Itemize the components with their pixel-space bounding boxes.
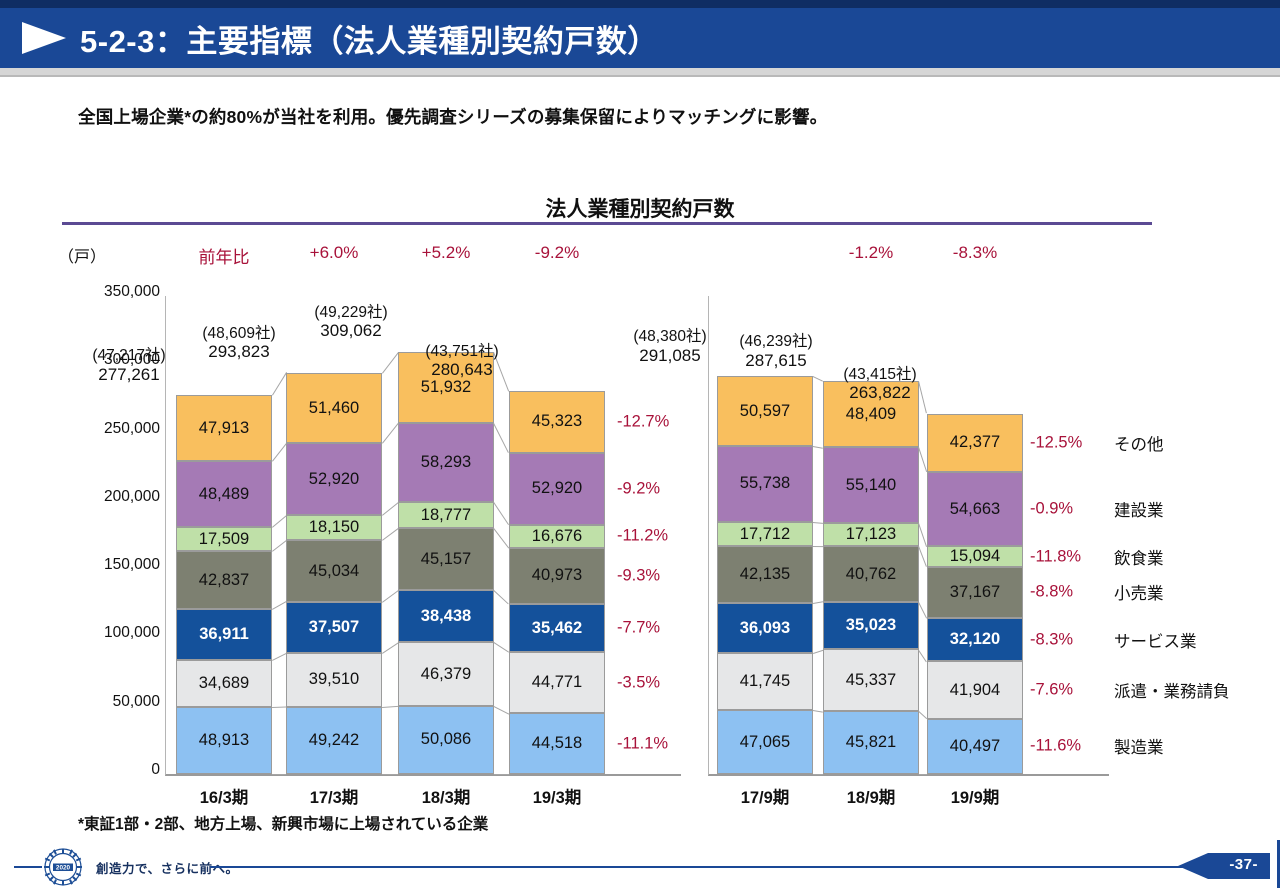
- bar-segment-value: 45,821: [846, 734, 896, 751]
- bar-segment[interactable]: 34,689: [176, 660, 272, 707]
- segment-yoy-delta: -11.6%: [1030, 737, 1081, 756]
- bar-segment-value: 42,837: [199, 572, 249, 589]
- bar-segment-value: 16,676: [532, 528, 582, 545]
- segment-yoy-delta: -12.7%: [617, 412, 669, 431]
- stacked-bar[interactable]: 48,40955,14017,12340,76235,02345,33745,8…: [823, 381, 919, 774]
- bar-segment[interactable]: 35,462: [509, 604, 605, 652]
- bar-segment[interactable]: 15,094: [927, 546, 1023, 567]
- bar-segment[interactable]: 48,489: [176, 461, 272, 527]
- bar-segment-value: 47,065: [740, 734, 790, 751]
- legend-item-5[interactable]: 派遣・業務請負: [1114, 678, 1230, 702]
- company-logo-icon: 2020: [40, 846, 86, 888]
- yoy-value: +6.0%: [274, 243, 394, 263]
- bar-segment[interactable]: 50,086: [398, 706, 494, 774]
- bar-segment[interactable]: 55,140: [823, 447, 919, 522]
- stacked-bar[interactable]: 42,37754,66315,09437,16732,12041,90440,4…: [927, 414, 1023, 774]
- bar-total-value: 309,062: [256, 321, 446, 340]
- bar-segment[interactable]: 37,167: [927, 567, 1023, 618]
- bar-segment[interactable]: 45,157: [398, 528, 494, 590]
- bar-segment[interactable]: 45,337: [823, 649, 919, 711]
- bar-segment[interactable]: 32,120: [927, 618, 1023, 662]
- bar-total-value: 277,261: [34, 365, 224, 384]
- bar-segment-value: 48,489: [199, 486, 249, 503]
- bar-segment-value: 45,337: [846, 672, 896, 689]
- bar-segment[interactable]: 17,712: [717, 522, 813, 546]
- bar-segment[interactable]: 39,510: [286, 653, 382, 707]
- legend-item-0[interactable]: その他: [1114, 431, 1164, 455]
- bar-segment-value: 17,509: [199, 531, 249, 548]
- x-axis-label: 19/9期: [915, 784, 1035, 808]
- bar-segment[interactable]: 58,293: [398, 423, 494, 503]
- footer-rule-left: [14, 866, 42, 868]
- bar-segment[interactable]: 55,738: [717, 446, 813, 522]
- segment-yoy-delta: -8.3%: [1030, 630, 1073, 649]
- bar-segment-value: 38,438: [421, 608, 471, 625]
- bar-segment-value: 18,150: [309, 519, 359, 536]
- page-number: -37-: [1229, 856, 1258, 873]
- y-axis-tick: 100,000: [104, 624, 160, 642]
- bar-segment-value: 45,034: [309, 563, 359, 580]
- bar-segment-value: 58,293: [421, 454, 471, 471]
- segment-connector-line: [382, 774, 398, 775]
- y-axis-tick: 0: [151, 761, 160, 779]
- bar-segment[interactable]: 37,507: [286, 602, 382, 653]
- segment-yoy-delta: -0.9%: [1030, 499, 1073, 518]
- bar-segment-value: 44,771: [532, 674, 582, 691]
- bar-segment-value: 48,409: [846, 406, 896, 423]
- title-divider: [0, 68, 1280, 75]
- x-axis-label: 16/3期: [164, 784, 284, 808]
- bar-segment-value: 17,712: [740, 526, 790, 543]
- bar-segment[interactable]: 40,973: [509, 548, 605, 604]
- bar-segment-value: 42,377: [950, 434, 1000, 451]
- bar-segment[interactable]: 16,676: [509, 525, 605, 548]
- bar-segment-value: 51,932: [421, 379, 471, 396]
- segment-yoy-delta: -9.3%: [617, 566, 660, 585]
- bar-segment[interactable]: 36,093: [717, 603, 813, 652]
- x-axis-label: 19/3期: [497, 784, 617, 808]
- bar-segment-value: 42,135: [740, 566, 790, 583]
- stacked-bar[interactable]: 47,91348,48917,50942,83736,91134,68948,9…: [176, 395, 272, 774]
- bar-segment[interactable]: 52,920: [509, 453, 605, 525]
- x-axis-label: 18/3期: [386, 784, 506, 808]
- segment-yoy-delta: -12.5%: [1030, 433, 1082, 452]
- x-axis-label: 17/3期: [274, 784, 394, 808]
- segment-connector-line: [494, 774, 509, 775]
- bar-segment-value: 49,242: [309, 732, 359, 749]
- bar-segment-value: 55,140: [846, 477, 896, 494]
- footnote: *東証1部・2部、地方上場、新興市場に上場されている企業: [78, 812, 488, 834]
- bar-segment-value: 17,123: [846, 526, 896, 543]
- bar-segment-value: 51,460: [309, 400, 359, 417]
- legend-item-3[interactable]: 小売業: [1114, 580, 1164, 604]
- bar-segment-value: 48,913: [199, 732, 249, 749]
- bar-segment[interactable]: 46,379: [398, 642, 494, 705]
- play-triangle-icon: [22, 22, 66, 54]
- bar-segment[interactable]: 36,911: [176, 609, 272, 659]
- bar-segment[interactable]: 45,821: [823, 711, 919, 774]
- segment-yoy-delta: -11.2%: [617, 527, 668, 546]
- stacked-bar[interactable]: 50,59755,73817,71242,13536,09341,74547,0…: [717, 376, 813, 774]
- bar-total-annotation: (49,229社)309,062: [256, 304, 446, 340]
- segment-connector-line: [919, 774, 927, 775]
- x-axis-label: 17/9期: [705, 784, 825, 808]
- bar-segment-value: 15,094: [950, 548, 1000, 565]
- bar-segment[interactable]: 42,135: [717, 546, 813, 604]
- bar-segment[interactable]: 44,771: [509, 652, 605, 713]
- segment-yoy-delta: -7.7%: [617, 618, 660, 637]
- segment-yoy-delta: -9.2%: [617, 479, 660, 498]
- segment-yoy-delta: -3.5%: [617, 673, 660, 692]
- segment-yoy-delta: -7.6%: [1030, 681, 1073, 700]
- legend-item-6[interactable]: 製造業: [1114, 734, 1164, 758]
- bar-total-annotation: (46,239社)287,615: [681, 333, 871, 369]
- slide-title-bar: 5-2-3：主要指標（法人業種別契約戸数）: [0, 8, 1280, 68]
- stacked-bar[interactable]: 45,32352,92016,67640,97335,46244,77144,5…: [509, 391, 605, 774]
- bar-segment[interactable]: 42,377: [927, 414, 1023, 472]
- bar-total-value: 293,823: [144, 342, 334, 361]
- bar-segment[interactable]: 40,762: [823, 546, 919, 602]
- bar-segment-value: 35,023: [846, 617, 896, 634]
- bar-segment-value: 55,738: [740, 475, 790, 492]
- bar-segment-value: 45,323: [532, 413, 582, 430]
- bar-segment-value: 54,663: [950, 501, 1000, 518]
- title-divider-thin: [0, 75, 1280, 77]
- bar-segment-value: 50,086: [421, 731, 471, 748]
- chart-title: 法人業種別契約戸数: [0, 193, 1280, 223]
- bar-segment-value: 18,777: [421, 507, 471, 524]
- bar-segment-value: 45,157: [421, 551, 471, 568]
- y-axis-tick: 150,000: [104, 556, 160, 574]
- yoy-value: -1.2%: [811, 243, 931, 263]
- bar-segment-value: 32,120: [950, 631, 1000, 648]
- bar-segment[interactable]: 45,034: [286, 540, 382, 602]
- bar-segment[interactable]: 17,123: [823, 523, 919, 546]
- bar-segment[interactable]: 17,509: [176, 527, 272, 551]
- yoy-value: -8.3%: [915, 243, 1035, 263]
- stacked-bar[interactable]: 51,46052,92018,15045,03437,50739,51049,2…: [286, 373, 382, 774]
- chart-title-rule: [62, 222, 1152, 225]
- bar-segment[interactable]: 47,913: [176, 395, 272, 460]
- svg-text:2020: 2020: [56, 865, 71, 872]
- bar-company-count: (43,415社): [785, 366, 975, 383]
- y-axis-tick: 50,000: [113, 693, 160, 711]
- bar-segment-value: 46,379: [421, 666, 471, 683]
- yoy-value: -9.2%: [497, 243, 617, 263]
- bar-segment-value: 36,093: [740, 620, 790, 637]
- y-axis-tick: 200,000: [104, 488, 160, 506]
- bar-segment[interactable]: 45,323: [509, 391, 605, 453]
- bar-segment[interactable]: 54,663: [927, 472, 1023, 547]
- bar-segment-value: 35,462: [532, 620, 582, 637]
- bar-segment-value: 36,911: [199, 626, 249, 643]
- bar-segment-value: 52,920: [532, 480, 582, 497]
- bar-segment-value: 34,689: [199, 675, 249, 692]
- page-title: 5-2-3：主要指標（法人業種別契約戸数）: [80, 16, 659, 61]
- bar-segment[interactable]: 41,745: [717, 653, 813, 710]
- bar-segment-value: 41,904: [950, 682, 1000, 699]
- bar-segment-value: 37,167: [950, 584, 1000, 601]
- segment-connector-line: [813, 546, 823, 547]
- bar-segment-value: 50,597: [740, 403, 790, 420]
- bar-company-count: (43,751社): [367, 343, 557, 360]
- bar-segment[interactable]: 51,460: [286, 373, 382, 443]
- bar-total-annotation: (43,751社)280,643: [367, 343, 557, 379]
- bar-total-value: 280,643: [367, 360, 557, 379]
- bar-segment[interactable]: 49,242: [286, 707, 382, 774]
- bar-company-count: (49,229社): [256, 304, 446, 321]
- lead-sentence: 全国上場企業*の約80%が当社を利用。優先調査シリーズの募集保留によりマッチング…: [78, 104, 1208, 129]
- bar-segment[interactable]: 38,438: [398, 590, 494, 642]
- bar-segment[interactable]: 41,904: [927, 661, 1023, 718]
- bar-segment-value: 40,497: [950, 738, 1000, 755]
- segment-yoy-delta: -11.1%: [617, 734, 668, 753]
- segment-connector-line: [272, 774, 286, 775]
- bar-segment-value: 40,973: [532, 567, 582, 584]
- bar-segment[interactable]: 42,837: [176, 551, 272, 610]
- bar-segment[interactable]: 35,023: [823, 602, 919, 650]
- top-accent-strip: [0, 0, 1280, 8]
- bar-segment[interactable]: 18,777: [398, 502, 494, 528]
- stacked-bar[interactable]: 51,93258,29318,77745,15738,43846,37950,0…: [398, 352, 494, 774]
- yoy-row-label: 前年比: [164, 243, 284, 268]
- legend-item-4[interactable]: サービス業: [1114, 628, 1197, 652]
- bar-segment-value: 44,518: [532, 735, 582, 752]
- bar-total-annotation: (43,415社)263,822: [785, 366, 975, 402]
- yoy-value: +5.2%: [386, 243, 506, 263]
- unit-label: （戸）: [58, 243, 106, 267]
- bar-company-count: (46,239社): [681, 333, 871, 350]
- bar-segment-value: 39,510: [309, 671, 359, 688]
- footer-rule-right: [210, 866, 1200, 868]
- y-axis-tick: 250,000: [104, 420, 160, 438]
- bar-segment[interactable]: 18,150: [286, 515, 382, 540]
- bar-segment-value: 47,913: [199, 420, 249, 437]
- legend-item-1[interactable]: 建設業: [1114, 497, 1164, 521]
- bar-segment[interactable]: 40,497: [927, 719, 1023, 774]
- bar-segment-value: 40,762: [846, 566, 896, 583]
- bar-segment[interactable]: 48,913: [176, 707, 272, 774]
- segment-yoy-delta: -8.8%: [1030, 583, 1073, 602]
- bar-segment[interactable]: 47,065: [717, 710, 813, 774]
- legend-item-2[interactable]: 飲食業: [1114, 545, 1164, 569]
- x-axis-label: 18/9期: [811, 784, 931, 808]
- segment-yoy-delta: -11.8%: [1030, 547, 1081, 566]
- bar-total-value: 263,822: [785, 383, 975, 402]
- bar-segment[interactable]: 52,920: [286, 443, 382, 515]
- bar-segment-value: 52,920: [309, 471, 359, 488]
- y-axis-tick: 350,000: [104, 283, 160, 301]
- segment-connector-line: [813, 774, 823, 775]
- bar-segment[interactable]: 44,518: [509, 713, 605, 774]
- bar-segment-value: 37,507: [309, 619, 359, 636]
- bar-segment-value: 41,745: [740, 673, 790, 690]
